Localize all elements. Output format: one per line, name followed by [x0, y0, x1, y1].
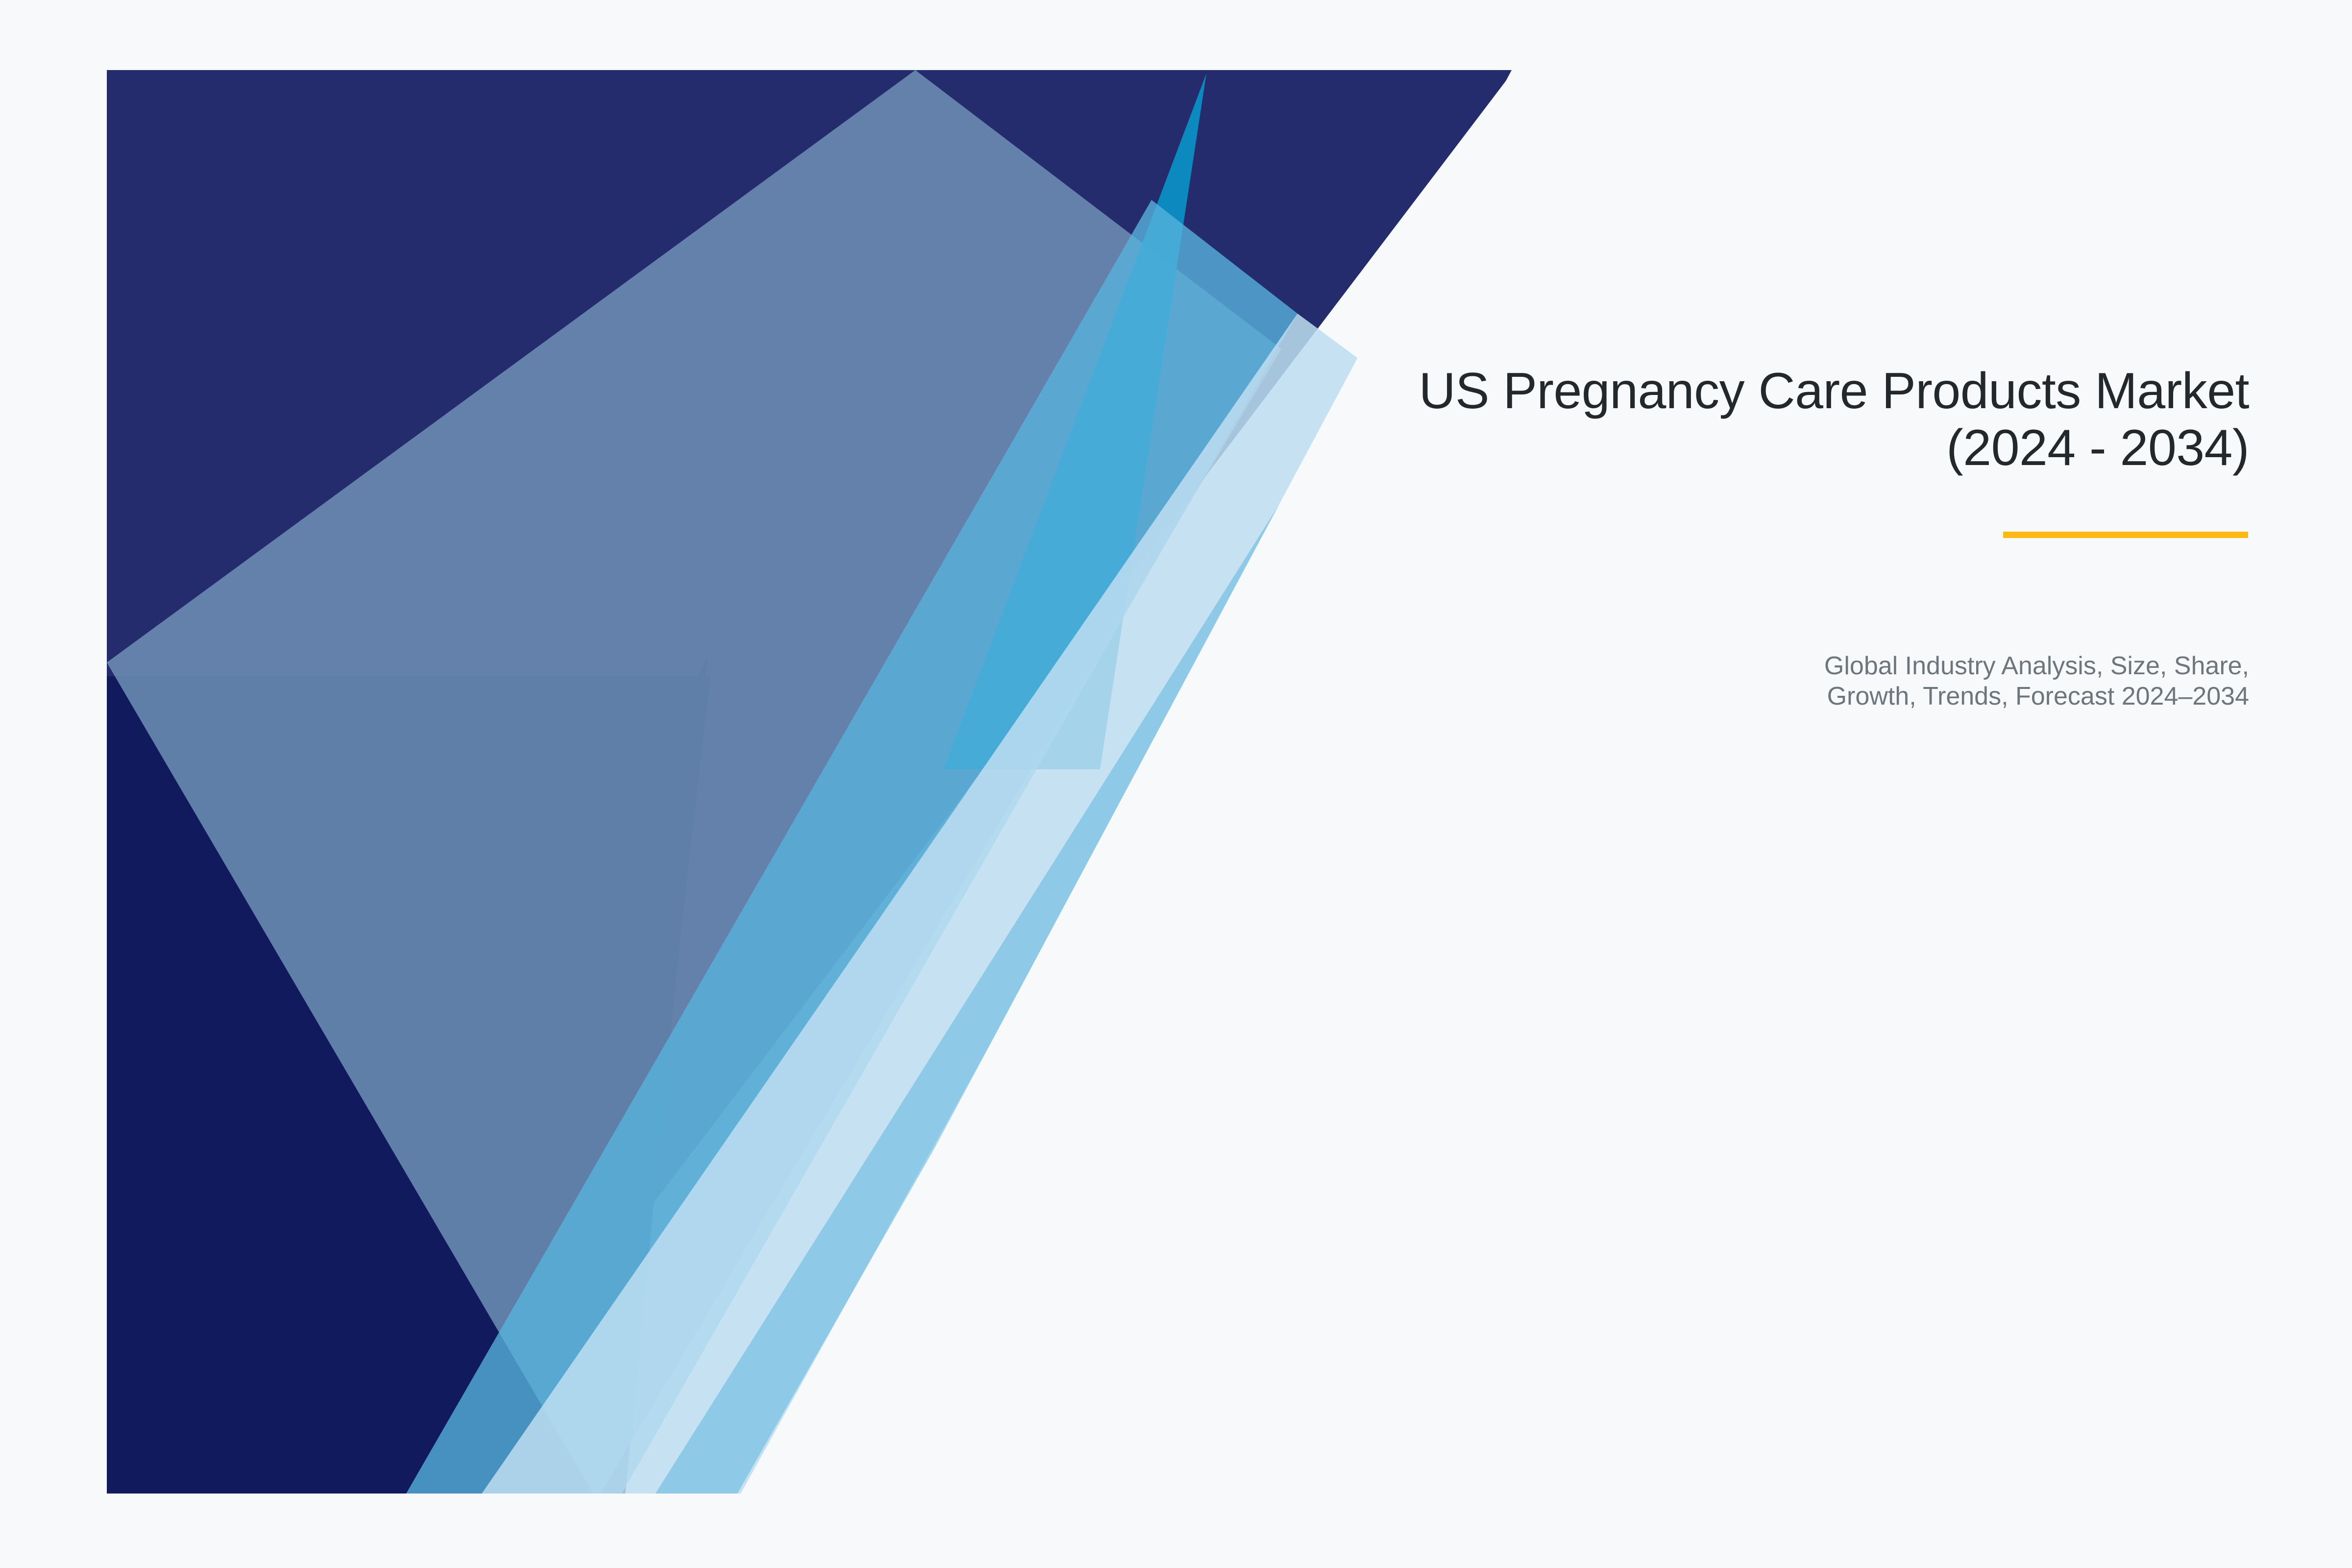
shape-navy-top-right-wedge: [59, 70, 1514, 1205]
shape-deep-navy-spike: [338, 654, 708, 1499]
shape-sky-blue-right-edge: [652, 365, 1375, 1499]
shape-slate-diamond: [107, 70, 1281, 1499]
page-subtitle: Global Industry Analysis, Size, Share, G…: [1127, 651, 2249, 711]
cover-text-block: US Pregnancy Care Products Market (2024 …: [1127, 363, 2249, 476]
shape-deep-navy-left-column: [59, 676, 710, 1499]
page-title: US Pregnancy Care Products Market (2024 …: [1127, 363, 2249, 476]
shape-cyan-field: [107, 70, 916, 701]
abstract-geometric-banner: [0, 0, 2352, 1568]
title-underline-bar: [2003, 532, 2248, 538]
report-cover-page: US Pregnancy Care Products Market (2024 …: [0, 0, 2352, 1568]
shape-pale-blue-band: [478, 314, 1367, 1499]
banner-svg: [0, 0, 2352, 1568]
